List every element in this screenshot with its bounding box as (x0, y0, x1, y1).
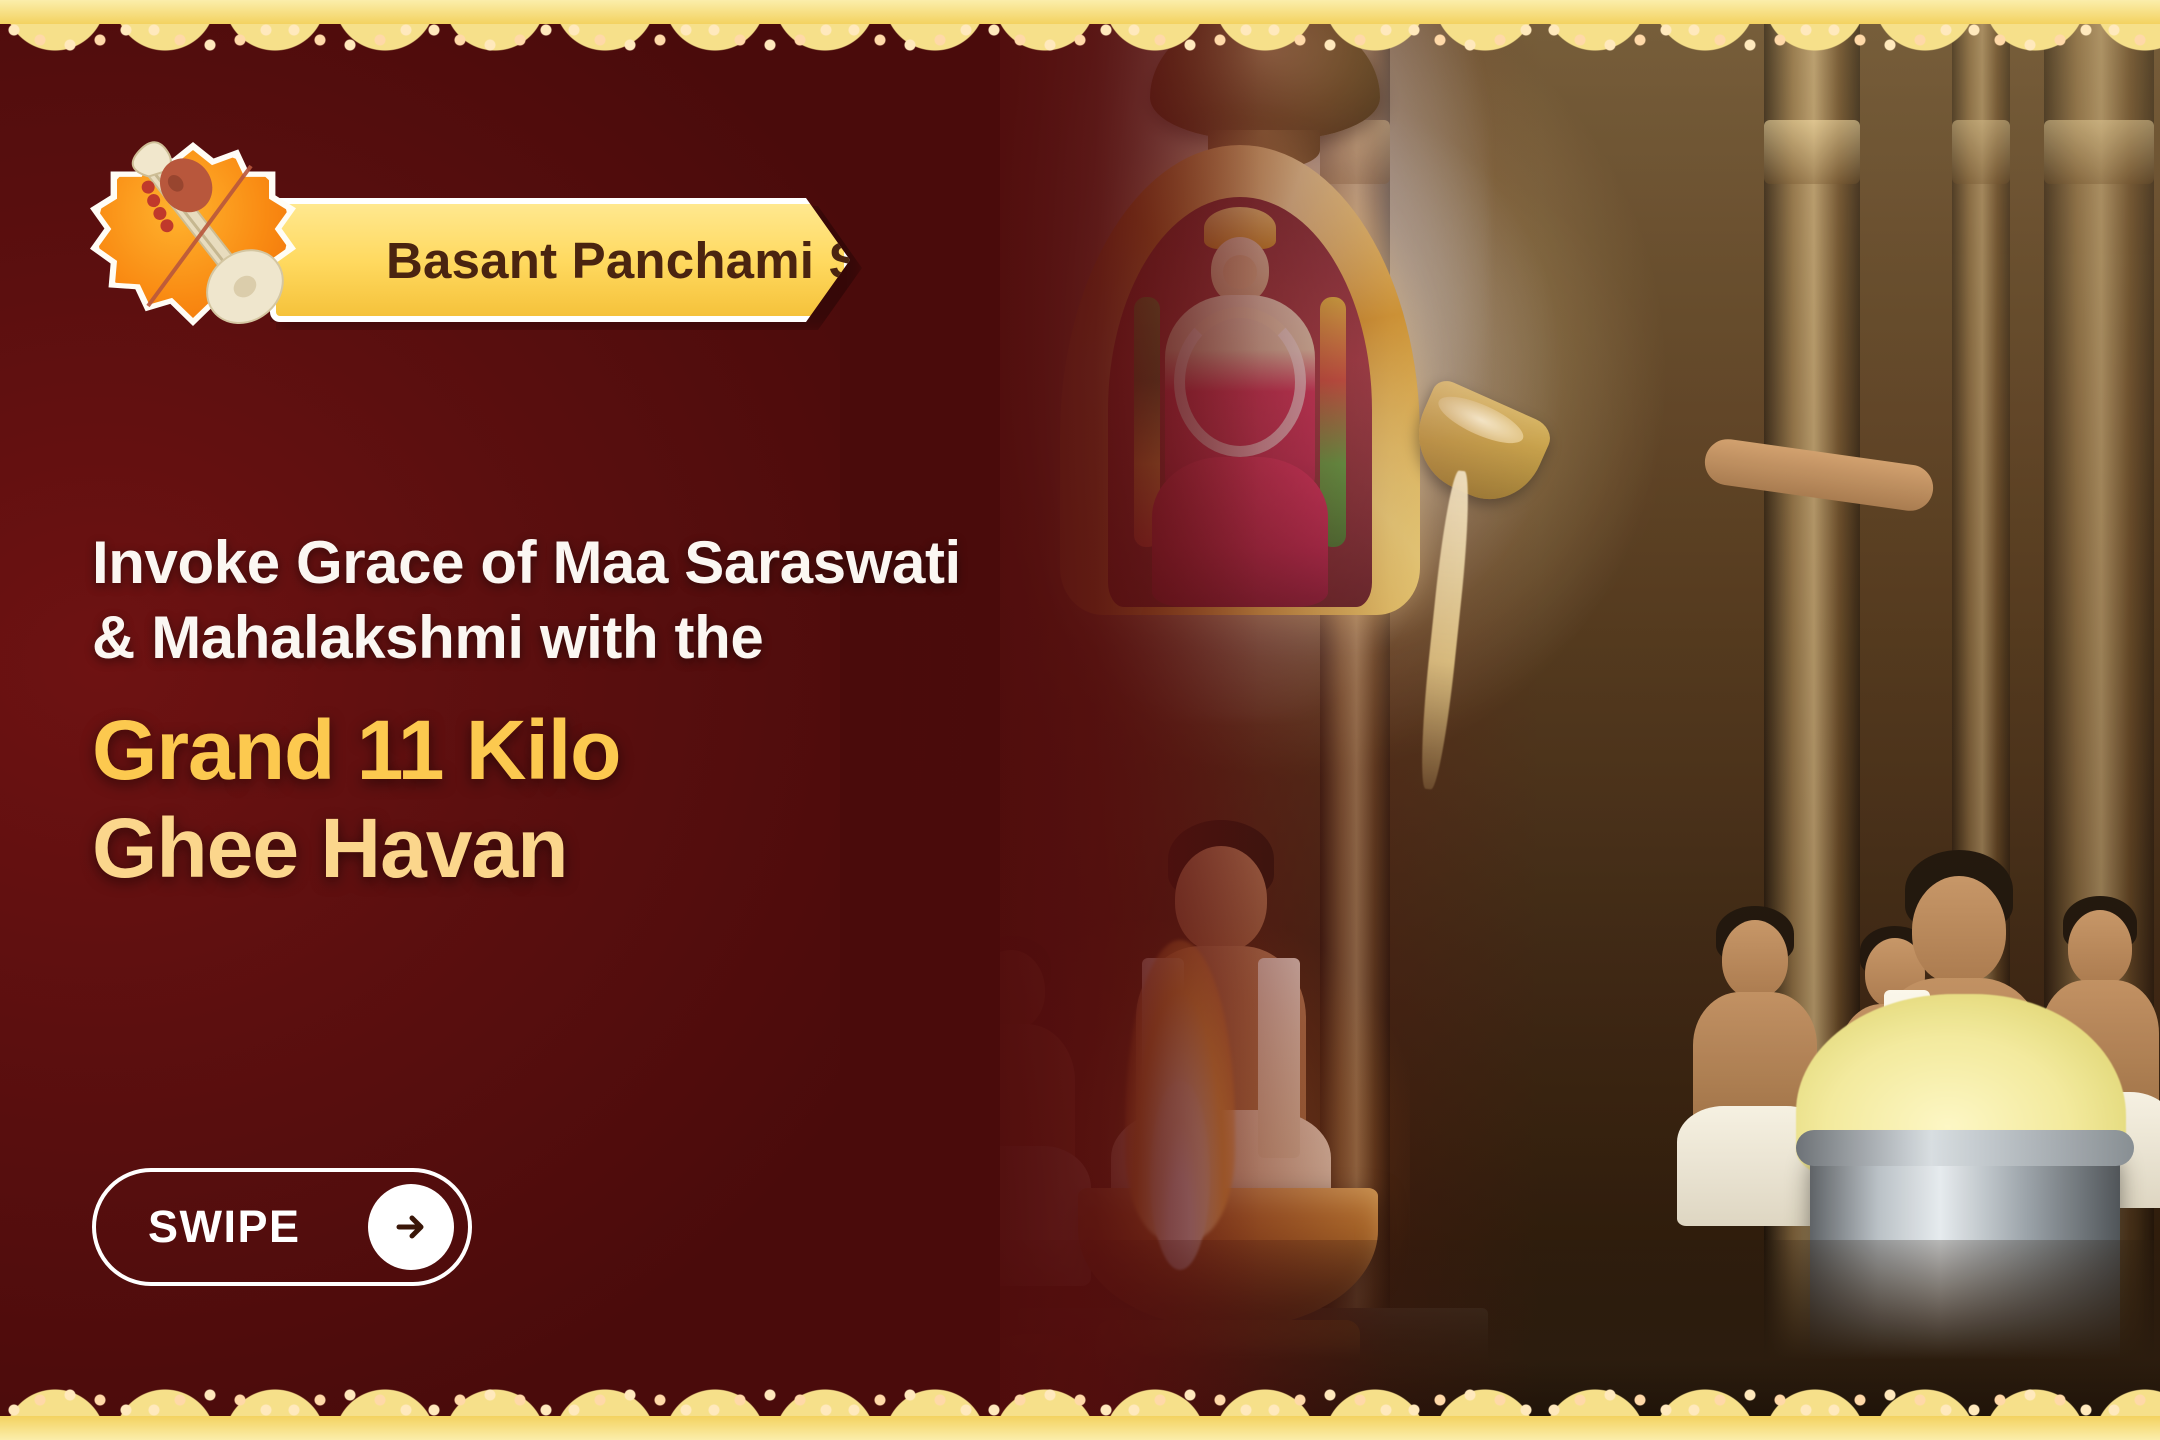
highlight-line-2: Ghee Havan (92, 799, 1142, 897)
arrow-right-icon (389, 1205, 433, 1249)
bead-dots-top (0, 0, 2160, 56)
headline-block: Invoke Grace of Maa Saraswati & Mahalaks… (92, 525, 1142, 898)
decorative-border-bottom (0, 1384, 2160, 1440)
headline-highlight: Grand 11 Kilo Ghee Havan (92, 701, 1142, 898)
swipe-label: SWIPE (148, 1201, 301, 1253)
highlight-line-1: Grand 11 Kilo (92, 701, 1142, 799)
veena-instrument-icon (88, 128, 318, 328)
headline-line-1: Invoke Grace of Maa Saraswati (92, 525, 1142, 600)
bead-dots-bottom (0, 1384, 2160, 1440)
promotional-banner: Basant Panchami Special Invoke Grace of … (0, 0, 2160, 1440)
saraswati-badge (88, 128, 318, 328)
decorative-border-top (0, 0, 2160, 56)
swipe-button[interactable]: SWIPE (92, 1168, 472, 1286)
headline-line-2: & Mahalakshmi with the (92, 600, 1142, 675)
swipe-arrow-circle[interactable] (368, 1184, 454, 1270)
special-occasion-ribbon: Basant Panchami Special (270, 198, 850, 322)
